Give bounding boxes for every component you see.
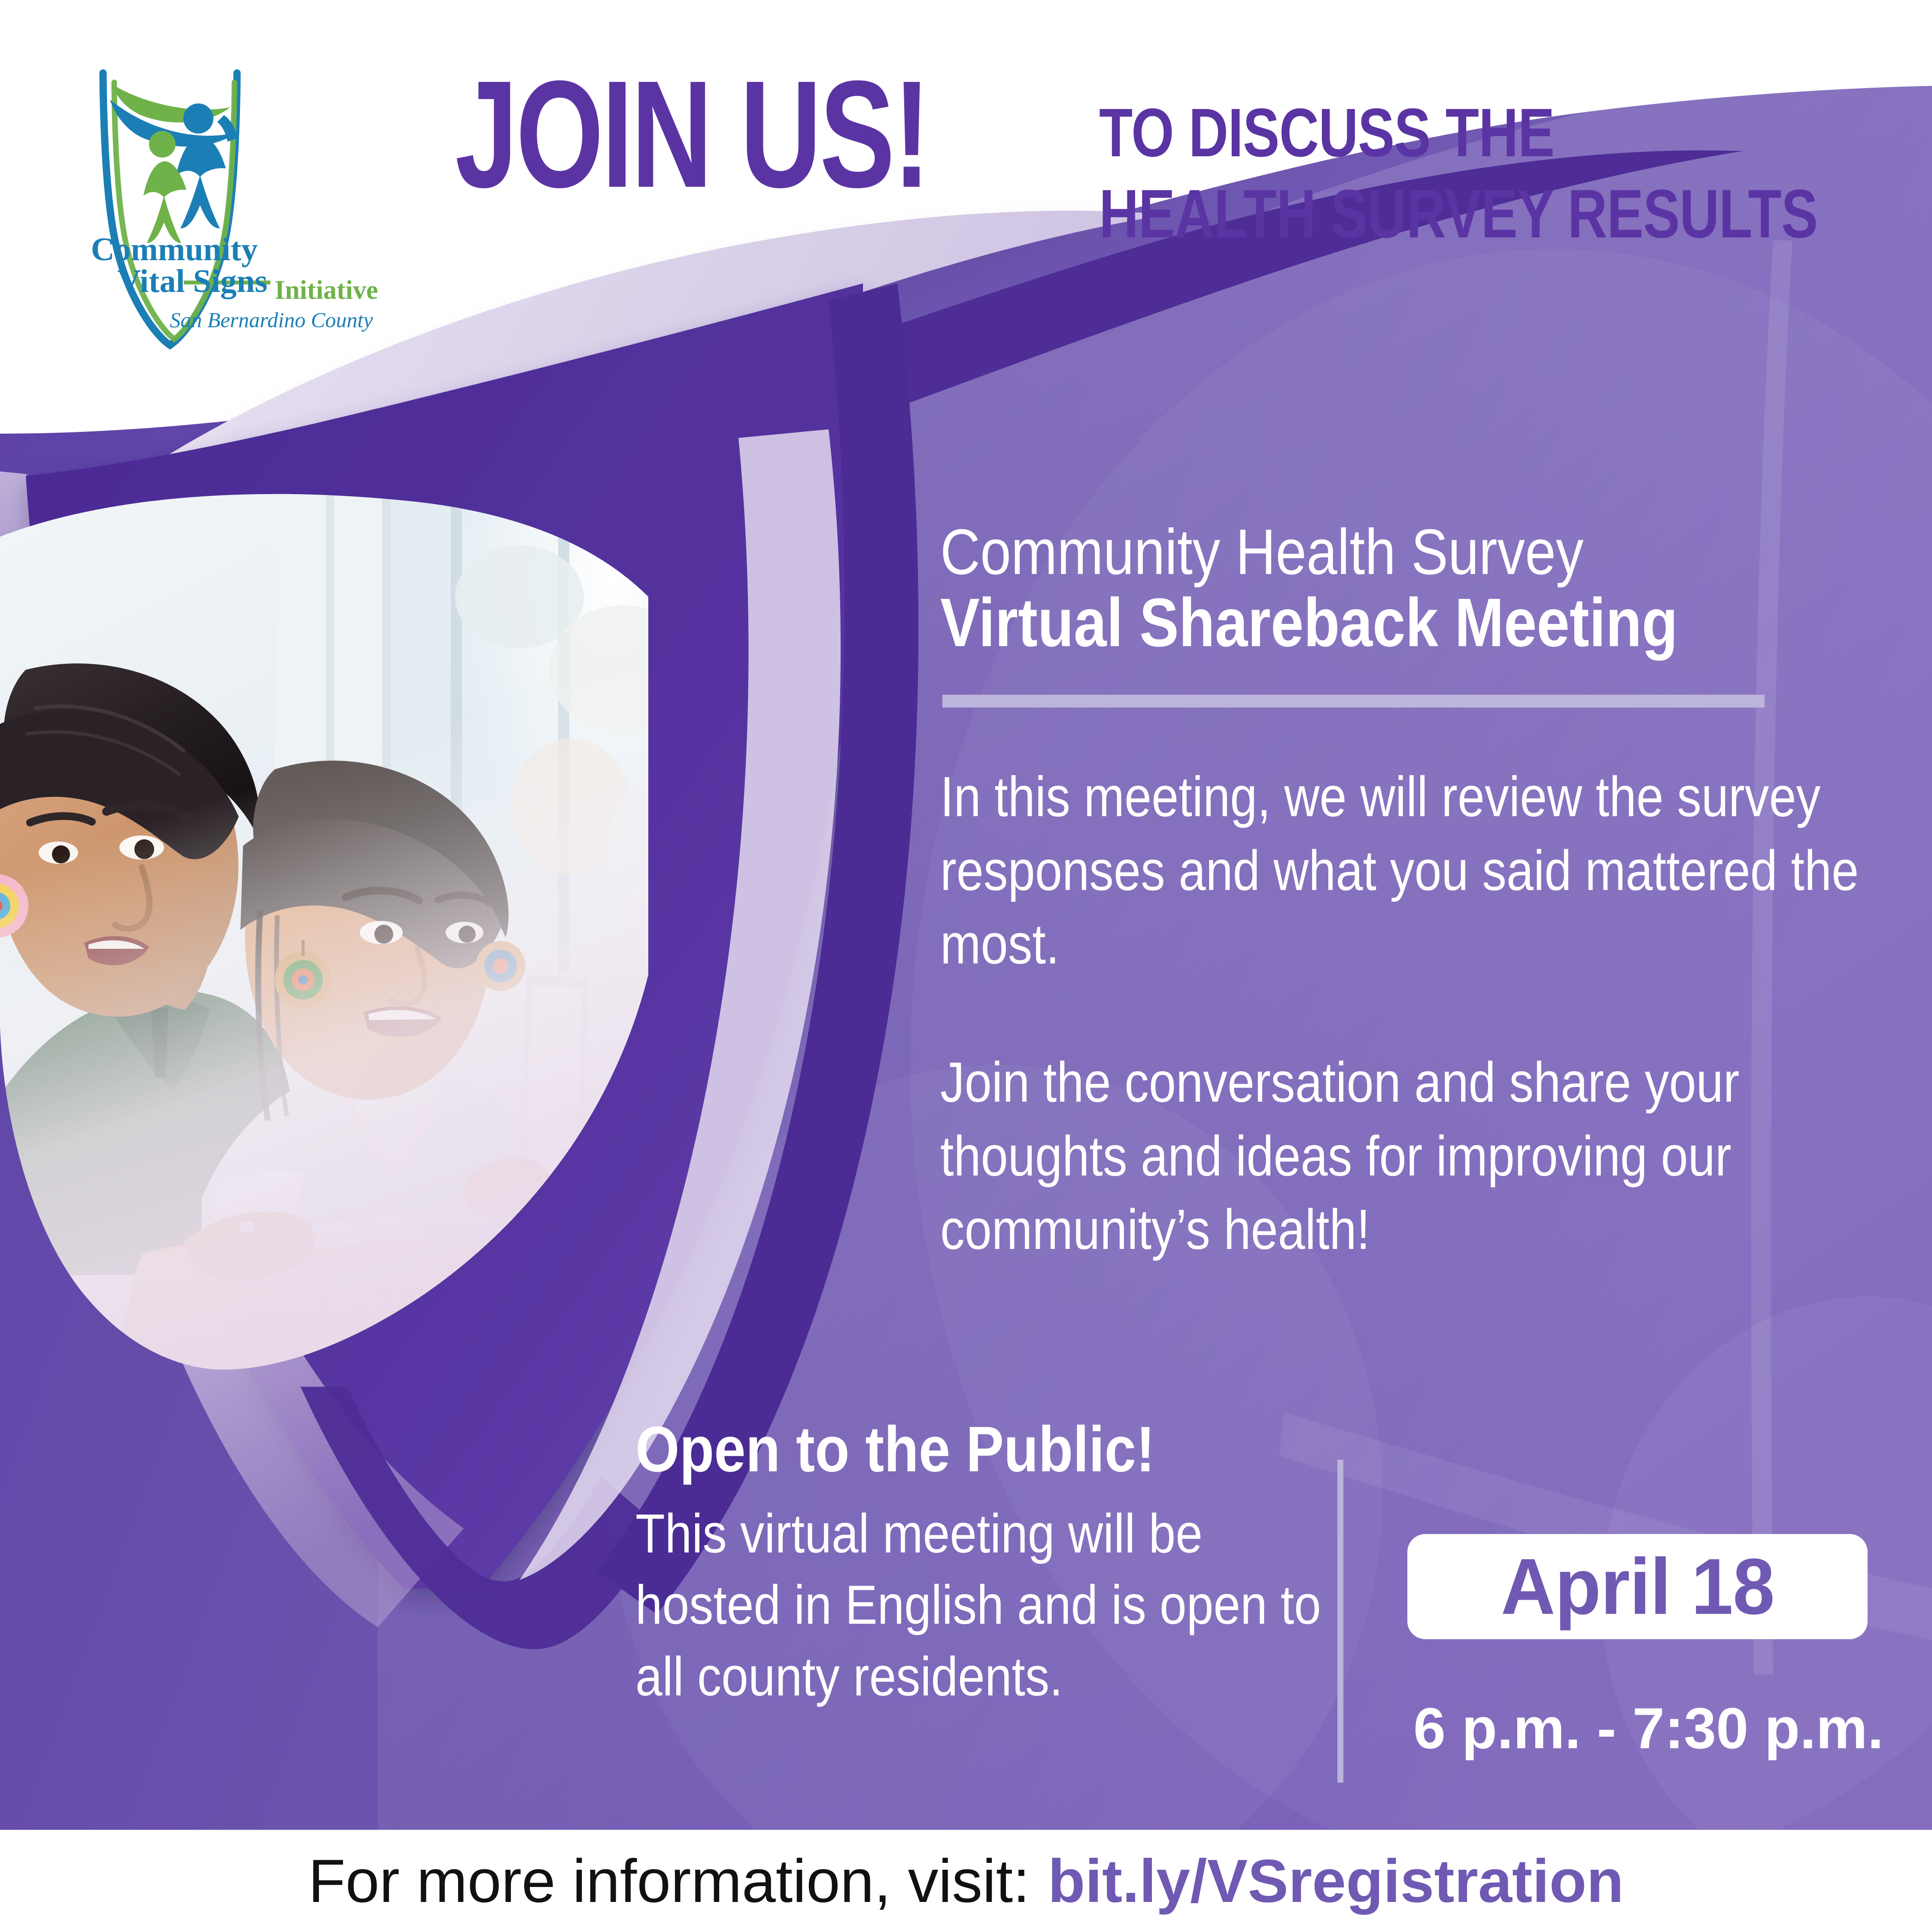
- registration-link[interactable]: bit.ly/VSregistration: [1048, 1847, 1624, 1915]
- svg-text:Initiative: Initiative: [274, 276, 378, 305]
- svg-text:Vital Signs: Vital Signs: [117, 263, 267, 299]
- flyer-root: Community Vital Signs Initiative San Ber…: [0, 0, 1932, 1932]
- svg-text:San Bernardino County: San Bernardino County: [170, 308, 373, 332]
- intro-paragraph-1: In this meeting, we will review the surv…: [940, 760, 1867, 981]
- join-us-headline: JOIN US!: [455, 64, 929, 205]
- open-to-public-heading: Open to the Public!: [635, 1417, 1155, 1481]
- hero-photo-frame: [0, 468, 704, 1370]
- hero-photo: [0, 468, 704, 1370]
- footer: For more information, visit:bit.ly/VSreg…: [0, 1846, 1932, 1917]
- heading-divider: [942, 695, 1765, 708]
- intro-paragraph-2: Join the conversation and share your tho…: [940, 1045, 1886, 1267]
- svg-text:Community: Community: [91, 231, 258, 267]
- open-to-public-body: This virtual meeting will be hosted in E…: [635, 1498, 1331, 1713]
- header-subtitle: TO DISCUSS THE HEALTH SURVEY RESULTS: [1099, 92, 1818, 255]
- event-date-text: April 18: [1501, 1541, 1774, 1632]
- community-vital-signs-logo: Community Vital Signs Initiative San Ber…: [86, 60, 399, 352]
- header-subtitle-line2: HEALTH SURVEY RESULTS: [1099, 173, 1818, 255]
- header-subtitle-line1: TO DISCUSS THE: [1099, 92, 1818, 173]
- event-time-text: 6 p.m. - 7:30 p.m.: [1413, 1695, 1868, 1762]
- main-heading-line1: Community Health Survey: [940, 519, 1583, 584]
- event-date-badge: April 18: [1407, 1534, 1868, 1639]
- main-heading-line2: Virtual Shareback Meeting: [940, 588, 1678, 657]
- footer-label: For more information, visit:: [308, 1847, 1030, 1915]
- vertical-divider: [1337, 1460, 1343, 1783]
